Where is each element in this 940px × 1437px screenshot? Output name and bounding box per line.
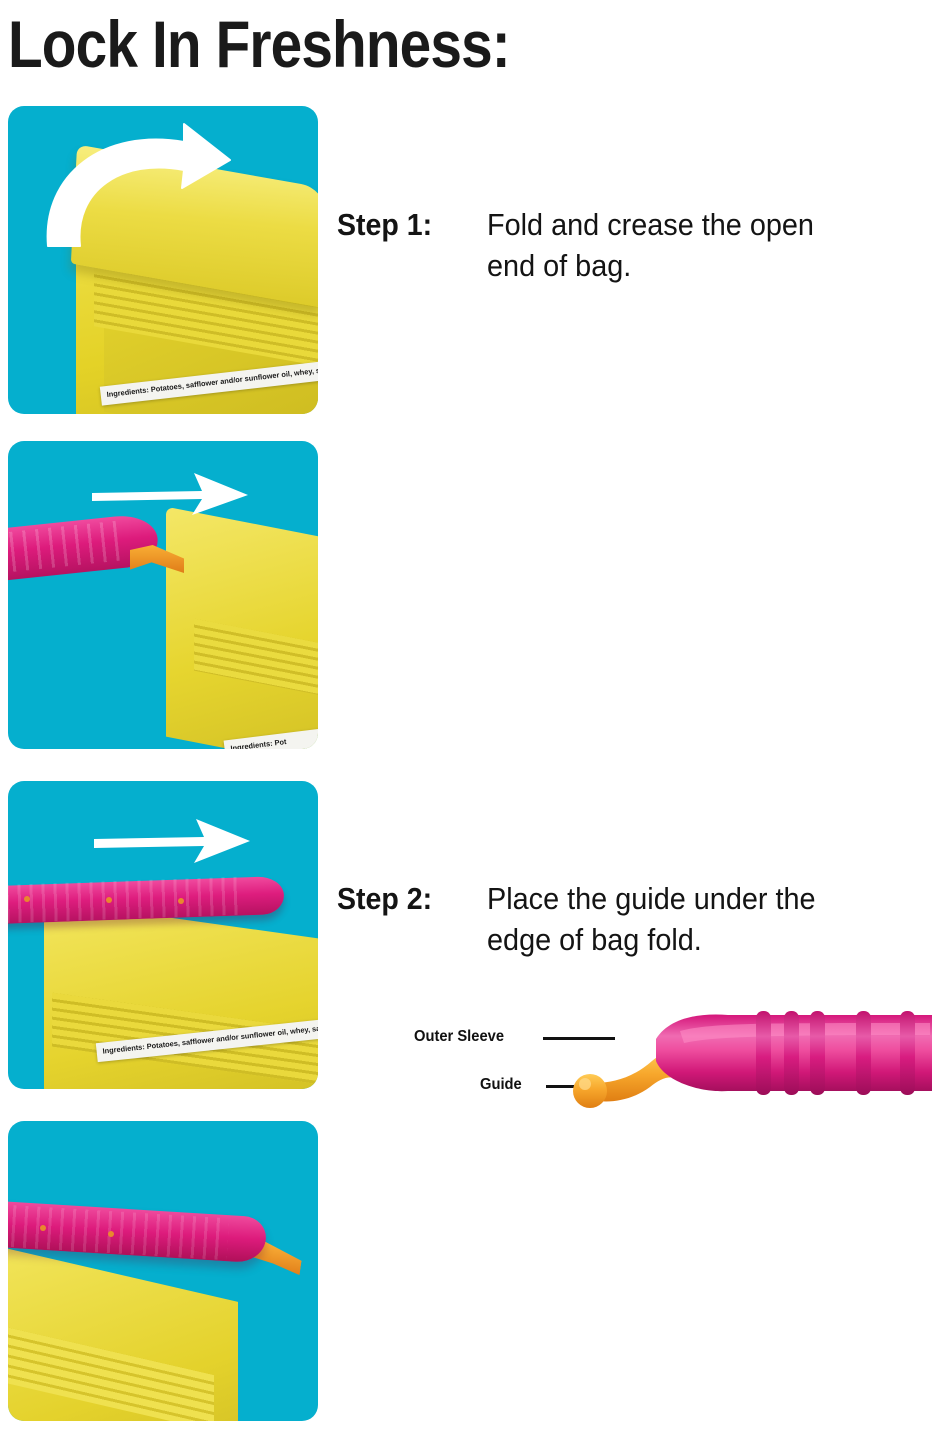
step-row-2: Ingredients: Pot Step 2: Place the guide… [0, 435, 940, 775]
ingredients-heading: Ingredients: [106, 385, 149, 399]
step-1-line-2: end of bag. [487, 245, 940, 286]
gripstic-hole [40, 1225, 46, 1231]
step-row-3: Ingredients: Potatoes, safflower and/or … [0, 775, 940, 1115]
curved-arrow-icon [34, 114, 254, 274]
step-1-line-1: Fold and crease the open [487, 204, 940, 245]
step-1-text: Step 1: Fold and crease the open end of … [337, 204, 940, 286]
page-title: Lock In Freshness: [8, 6, 510, 82]
ingredients-body: Pot [274, 737, 287, 747]
step-2-photo-panel: Ingredients: Pot [8, 441, 318, 749]
ingredients-heading: Ingredients: [102, 1042, 145, 1055]
step-3-photo-panel: Ingredients: Potatoes, safflower and/or … [8, 781, 318, 1089]
gripstic-hole [106, 897, 112, 903]
step-row-4: Step 4: Center the GRIPSTIC on the bag t… [0, 1115, 940, 1437]
step-row-1: Ingredients: Potatoes, safflower and/or … [0, 100, 940, 435]
ingredients-heading: Ingredients: [230, 739, 273, 749]
gripstic-hole [108, 1231, 114, 1237]
straight-arrow-right-icon [90, 469, 250, 519]
step-1-label: Step 1: [337, 204, 475, 245]
step-4-photo-panel [8, 1121, 318, 1421]
straight-arrow-right-icon [92, 815, 252, 867]
instruction-sheet: Lock In Freshness: Ingredients: Potatoes… [0, 0, 940, 1437]
gripstic-hole [24, 896, 30, 902]
gripstic-hole [178, 898, 184, 904]
step-1-photo-panel: Ingredients: Potatoes, safflower and/or … [8, 106, 318, 414]
step-1-description: Fold and crease the open end of bag. [487, 204, 940, 286]
